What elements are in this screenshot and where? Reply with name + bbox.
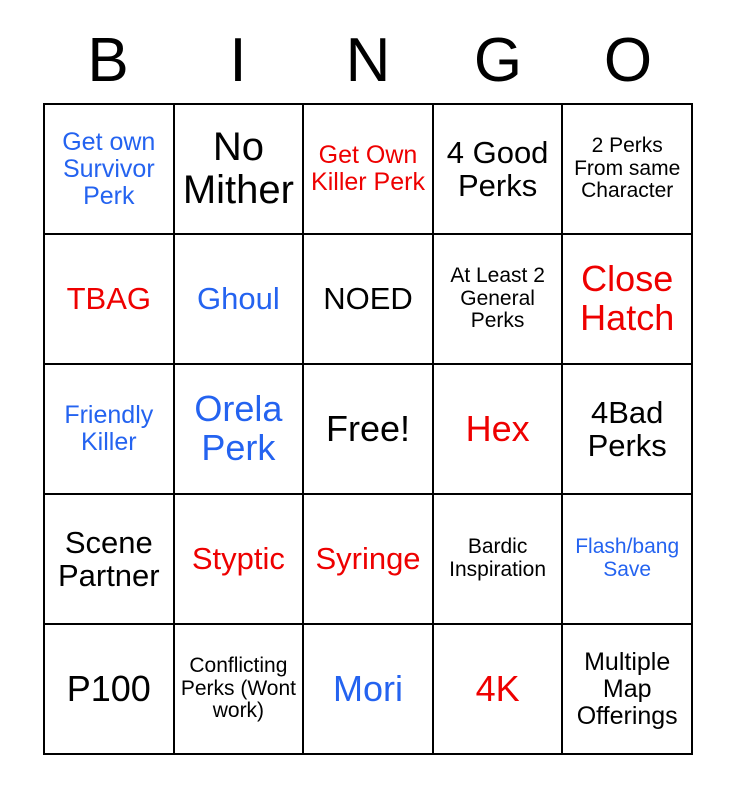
bingo-cell-label: At Least 2 General Perks	[438, 265, 558, 333]
bingo-cell-label: TBAG	[49, 282, 169, 315]
header-letter-b: B	[43, 22, 173, 100]
bingo-cell-r2c4[interactable]: At Least 2 General Perks	[434, 235, 564, 365]
bingo-cell-label: Mori	[308, 670, 428, 709]
bingo-cell-r5c3[interactable]: Mori	[304, 625, 434, 755]
header-letter-n: N	[303, 22, 433, 100]
bingo-cell-r5c1[interactable]: P100	[45, 625, 175, 755]
bingo-cell-label: 4Bad Perks	[567, 396, 687, 463]
bingo-cell-r4c3[interactable]: Syringe	[304, 495, 434, 625]
bingo-cell-label: Get own Survivor Perk	[49, 129, 169, 210]
bingo-cell-r3c5[interactable]: 4Bad Perks	[563, 365, 693, 495]
bingo-cell-label: 4K	[438, 670, 558, 709]
bingo-cell-r5c4[interactable]: 4K	[434, 625, 564, 755]
bingo-cell-label: Multiple Map Offerings	[567, 649, 687, 730]
bingo-cell-label: 4 Good Perks	[438, 136, 558, 203]
bingo-cell-r4c1[interactable]: Scene Partner	[45, 495, 175, 625]
bingo-cell-r3c2[interactable]: Orela Perk	[175, 365, 305, 495]
bingo-cell-r1c3[interactable]: Get Own Killer Perk	[304, 105, 434, 235]
bingo-cell-label: Get Own Killer Perk	[308, 142, 428, 196]
header-letter-o: O	[563, 22, 693, 100]
bingo-cell-label: Syringe	[308, 542, 428, 575]
bingo-cell-label: Bardic Inspiration	[438, 536, 558, 581]
bingo-cell-r3c4[interactable]: Hex	[434, 365, 564, 495]
bingo-cell-r1c5[interactable]: 2 Perks From same Character	[563, 105, 693, 235]
bingo-header-row: B I N G O	[43, 22, 693, 100]
bingo-cell-label: Free!	[308, 410, 428, 449]
bingo-grid: Get own Survivor PerkNo MitherGet Own Ki…	[43, 103, 693, 755]
header-letter-g: G	[433, 22, 563, 100]
bingo-cell-r4c2[interactable]: Styptic	[175, 495, 305, 625]
bingo-cell-r1c2[interactable]: No Mither	[175, 105, 305, 235]
bingo-cell-r2c3[interactable]: NOED	[304, 235, 434, 365]
bingo-cell-r2c5[interactable]: Close Hatch	[563, 235, 693, 365]
bingo-cell-r2c1[interactable]: TBAG	[45, 235, 175, 365]
bingo-cell-r1c1[interactable]: Get own Survivor Perk	[45, 105, 175, 235]
bingo-cell-label: Scene Partner	[49, 526, 169, 593]
bingo-cell-label: Friendly Killer	[49, 402, 169, 456]
bingo-cell-label: 2 Perks From same Character	[567, 135, 687, 203]
bingo-cell-r3c3[interactable]: Free!	[304, 365, 434, 495]
bingo-cell-r5c5[interactable]: Multiple Map Offerings	[563, 625, 693, 755]
bingo-cell-label: Styptic	[179, 542, 299, 575]
bingo-cell-r2c2[interactable]: Ghoul	[175, 235, 305, 365]
bingo-cell-label: Hex	[438, 410, 558, 449]
bingo-cell-label: Conflicting Perks (Wont work)	[179, 655, 299, 723]
bingo-cell-r1c4[interactable]: 4 Good Perks	[434, 105, 564, 235]
bingo-cell-r3c1[interactable]: Friendly Killer	[45, 365, 175, 495]
bingo-card: B I N G O Get own Survivor PerkNo Mither…	[0, 0, 736, 800]
header-letter-i: I	[173, 22, 303, 100]
bingo-cell-r4c4[interactable]: Bardic Inspiration	[434, 495, 564, 625]
bingo-cell-r4c5[interactable]: Flash/bang Save	[563, 495, 693, 625]
bingo-cell-label: NOED	[308, 282, 428, 315]
bingo-cell-label: P100	[49, 670, 169, 709]
bingo-cell-r5c2[interactable]: Conflicting Perks (Wont work)	[175, 625, 305, 755]
bingo-cell-label: Close Hatch	[567, 260, 687, 338]
bingo-cell-label: Flash/bang Save	[567, 536, 687, 581]
bingo-cell-label: Orela Perk	[179, 390, 299, 468]
bingo-cell-label: No Mither	[179, 126, 299, 212]
bingo-cell-label: Ghoul	[179, 282, 299, 315]
